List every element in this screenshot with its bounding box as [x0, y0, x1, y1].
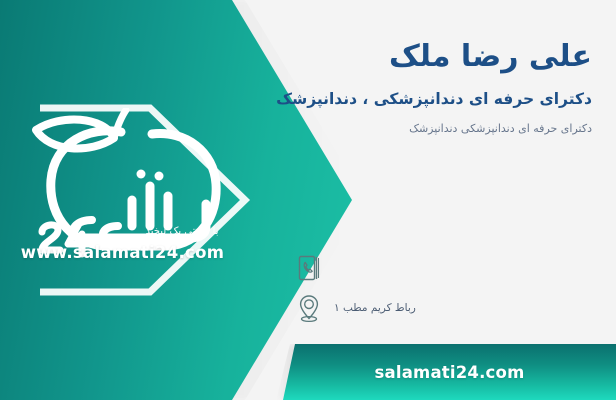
contact-info-list: رباط کریم مطب ۱: [294, 248, 594, 328]
contact-location-row[interactable]: رباط کریم مطب ۱: [294, 288, 594, 328]
contact-phone-row[interactable]: [294, 248, 594, 288]
logo-tagline: با راحتی یک لبخند: [130, 226, 234, 237]
doctor-specialty: دکترای حرفه ای دندانپزشکی ، دندانپزشک: [212, 88, 592, 111]
contact-location-label: رباط کریم مطب ۱: [334, 302, 416, 314]
phone-book-icon: [294, 252, 324, 284]
location-pin-icon: [294, 292, 324, 324]
doctor-info-block: علی رضا ملک دکترای حرفه ای دندانپزشکی ، …: [212, 0, 592, 137]
doctor-profile-card: با راحتی یک لبخند www.salamati24.com علی…: [0, 0, 616, 400]
logo-website: www.salamati24.com: [20, 243, 225, 262]
doctor-name: علی رضا ملک: [212, 38, 592, 76]
doctor-specialty-secondary: دکترای حرفه ای دندانپزشکی دندانپزشک: [212, 120, 592, 138]
footer-website[interactable]: salamati24.com: [283, 344, 616, 400]
